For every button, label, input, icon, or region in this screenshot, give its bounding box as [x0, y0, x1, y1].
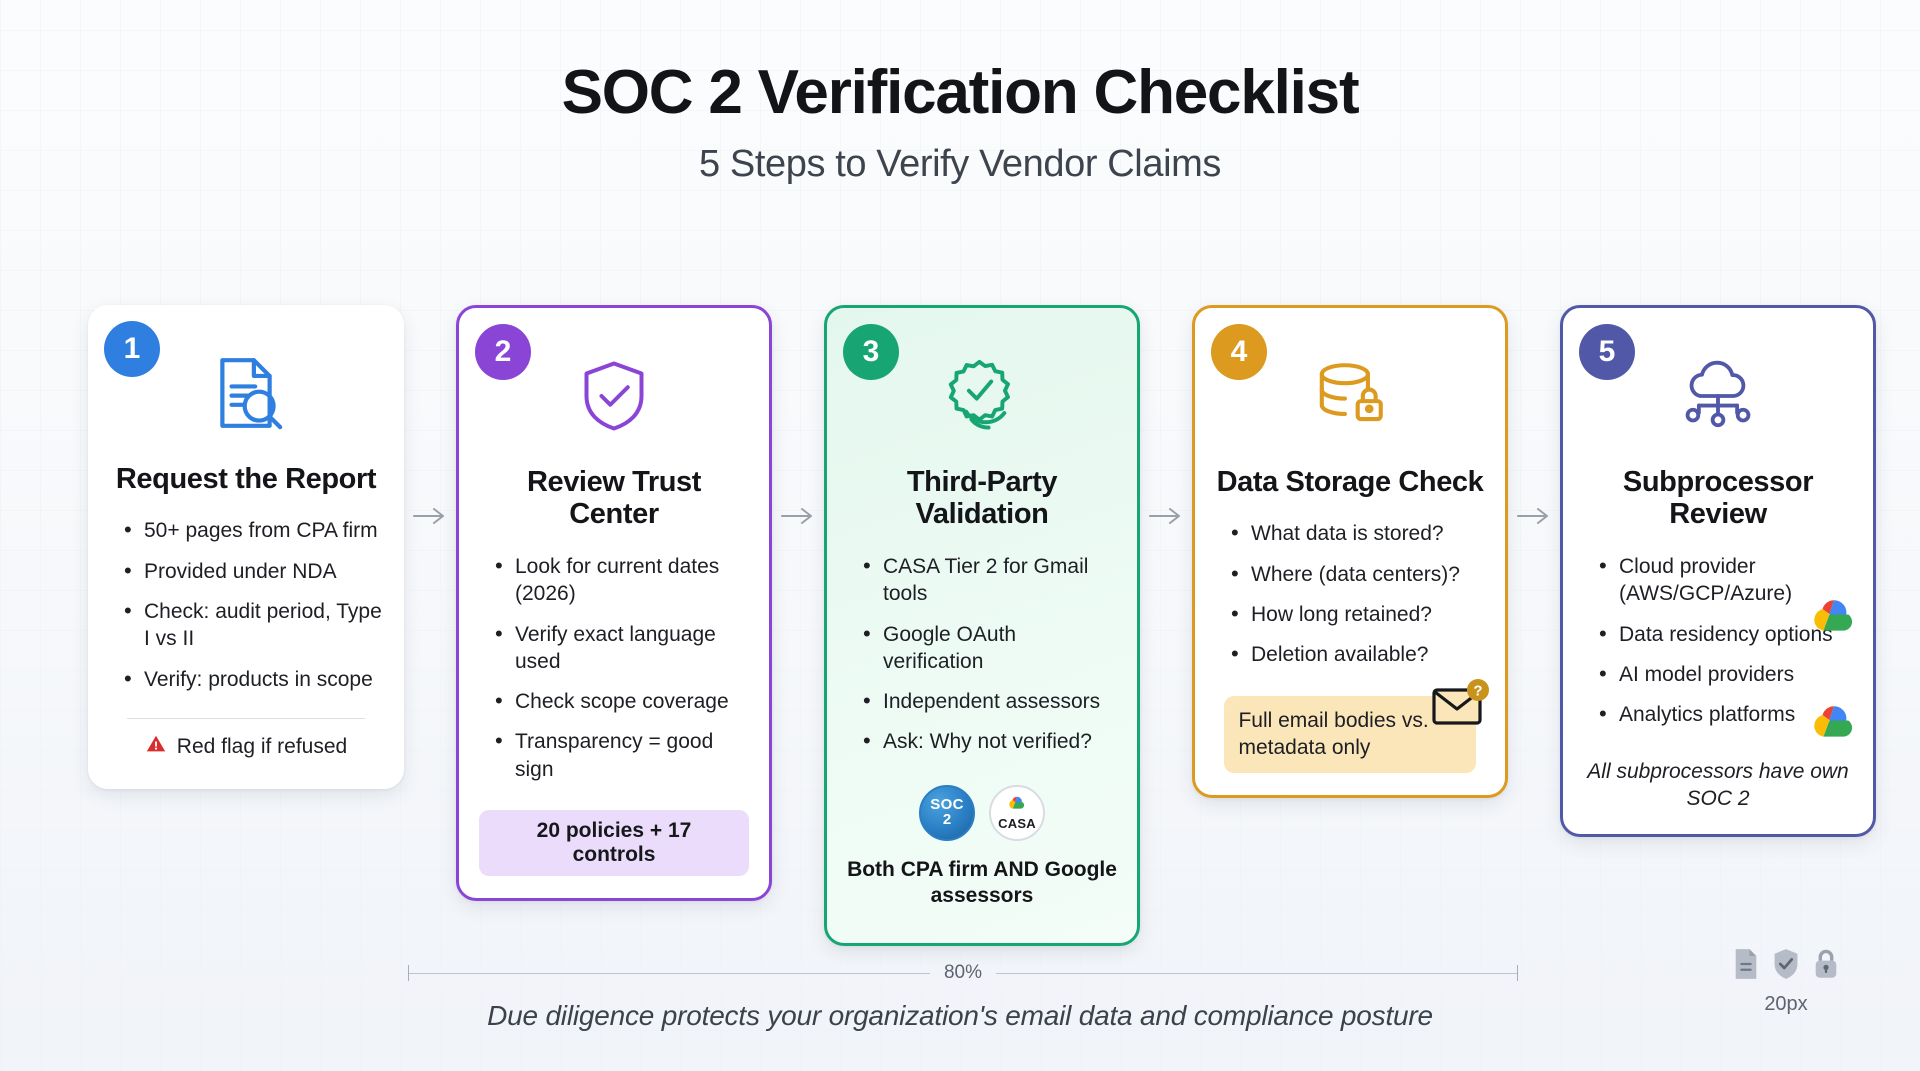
list-item: 50+ pages from CPA firm: [124, 517, 384, 544]
step-slot-2: 2 Review Trust Center Look for current d…: [456, 305, 772, 901]
step-badge-5: 5: [1579, 324, 1635, 380]
google-cloud-logo: [1811, 596, 1857, 639]
step-slot-1: 1 Request the Report 50+ pages from CPA …: [88, 305, 404, 789]
soc2-seal-logo: SOC 2: [919, 785, 975, 841]
measure-bar-right: [996, 973, 1517, 974]
warning-triangle-icon: [145, 733, 167, 761]
list-item: Check scope coverage: [495, 688, 749, 715]
step-title-2: Review Trust Center: [479, 466, 749, 531]
connector-arrow-3: [1140, 505, 1192, 527]
svg-text:?: ?: [1473, 682, 1482, 699]
list-item: What data is stored?: [1231, 520, 1485, 547]
list-item: How long retained?: [1231, 601, 1485, 628]
list-item: Deletion available?: [1231, 641, 1485, 668]
list-item: Provided under NDA: [124, 558, 384, 585]
list-item: Transparency = good sign: [495, 728, 749, 783]
header: SOC 2 Verification Checklist 5 Steps to …: [0, 0, 1920, 186]
legend-icon-row: [1732, 948, 1840, 985]
step-slot-4: 4 Data Storage Check What data is stored…: [1192, 305, 1508, 798]
validation-logos: SOC 2 CASA: [919, 785, 1045, 841]
step-title-4: Data Storage Check: [1217, 466, 1484, 498]
soc2-seal-line2: 2: [943, 812, 951, 829]
lock-icon: [1812, 948, 1840, 985]
measure-value: 80%: [930, 962, 996, 984]
measure-line: 80%: [408, 962, 1518, 984]
step-slot-3: 3 Third-Party Validation CASA Tier 2 for…: [824, 305, 1140, 946]
list-item: Independent assessors: [863, 688, 1117, 715]
page-subtitle: 5 Steps to Verify Vendor Claims: [0, 143, 1920, 186]
list-item: Verify: products in scope: [124, 666, 384, 693]
step-badge-1: 1: [104, 321, 160, 377]
connector-arrow-1: [404, 505, 456, 527]
list-item: Look for current dates (2026): [495, 553, 749, 608]
subprocessor-note: All subprocessors have own SOC 2: [1583, 759, 1853, 812]
certified-seal-icon: [940, 346, 1024, 446]
list-item: CASA Tier 2 for Gmail tools: [863, 553, 1117, 608]
step-slot-5: 5 Subprocessor Review Cloud p: [1560, 305, 1876, 837]
red-flag-text: Red flag if refused: [177, 735, 347, 759]
step-card-3[interactable]: 3 Third-Party Validation CASA Tier 2 for…: [824, 305, 1140, 946]
step-title-5: Subprocessor Review: [1583, 466, 1853, 531]
list-item: Where (data centers)?: [1231, 561, 1485, 588]
red-flag-note: Red flag if refused: [145, 733, 347, 767]
envelope-question-icon: ?: [1430, 678, 1492, 738]
footer-tagline: Due diligence protects your organization…: [0, 1000, 1920, 1032]
measure-bar-left: [409, 973, 930, 974]
list-item: Check: audit period, Type I vs II: [124, 598, 384, 653]
connector-arrow-2: [772, 505, 824, 527]
list-item: AI model providers: [1599, 661, 1853, 688]
icon-size-legend: 20px: [1732, 948, 1840, 1016]
legend-label: 20px: [1764, 993, 1807, 1016]
step-badge-2: 2: [475, 324, 531, 380]
step-bullets-3: CASA Tier 2 for Gmail tools Google OAuth…: [847, 553, 1117, 769]
soc2-seal-line1: SOC: [930, 797, 963, 812]
step-card-1[interactable]: 1 Request the Report 50+ pages from CPA …: [88, 305, 404, 789]
shield-check-icon: [1772, 948, 1800, 985]
step-card-2[interactable]: 2 Review Trust Center Look for current d…: [456, 305, 772, 901]
cloud-network-icon: [1675, 346, 1761, 446]
step-title-1: Request the Report: [116, 463, 376, 495]
steps-row: 1 Request the Report 50+ pages from CPA …: [88, 305, 1832, 946]
measure-cap-right: [1517, 965, 1518, 981]
list-item: Ask: Why not verified?: [863, 728, 1117, 755]
step-bullets-1: 50+ pages from CPA firm Provided under N…: [108, 517, 384, 705]
step-bullets-2: Look for current dates (2026) Verify exa…: [479, 553, 749, 796]
shield-check-icon: [574, 346, 654, 446]
policies-pill: 20 policies + 17 controls: [479, 810, 749, 876]
email-scope-highlight: Full email bodies vs. metadata only ?: [1224, 696, 1475, 774]
database-lock-icon: [1309, 346, 1391, 446]
casa-label: CASA: [998, 816, 1036, 831]
validation-caption: Both CPA firm AND Google assessors: [847, 857, 1117, 910]
step-badge-3: 3: [843, 324, 899, 380]
casa-badge-logo: CASA: [989, 785, 1045, 841]
google-cloud-icon: [1008, 795, 1026, 815]
document-icon: [1732, 948, 1760, 985]
connector-arrow-4: [1508, 505, 1560, 527]
email-scope-text: Full email bodies vs. metadata only: [1238, 709, 1428, 759]
google-cloud-logo: [1811, 702, 1857, 745]
list-item: Google OAuth verification: [863, 621, 1117, 676]
step-card-4[interactable]: 4 Data Storage Check What data is stored…: [1192, 305, 1508, 798]
divider: [127, 718, 364, 719]
list-item: Verify exact language used: [495, 621, 749, 676]
page-title: SOC 2 Verification Checklist: [0, 60, 1920, 125]
infographic-root: SOC 2 Verification Checklist 5 Steps to …: [0, 0, 1920, 1071]
step-badge-4: 4: [1211, 324, 1267, 380]
document-search-icon: [204, 343, 288, 443]
step-title-3: Third-Party Validation: [847, 466, 1117, 531]
step-card-5[interactable]: 5 Subprocessor Review Cloud p: [1560, 305, 1876, 837]
step-bullets-4: What data is stored? Where (data centers…: [1215, 520, 1485, 681]
